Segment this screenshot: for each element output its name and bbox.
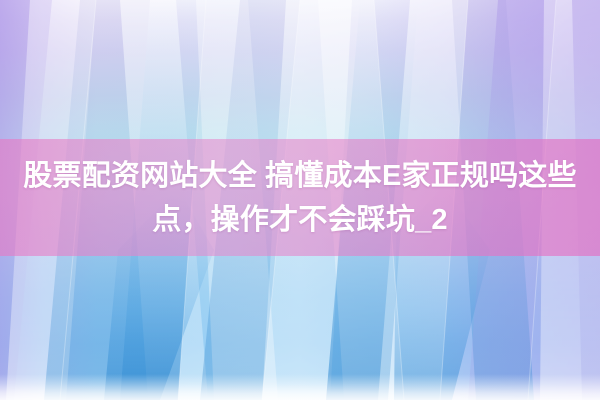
bottom-fade-overlay — [0, 374, 600, 400]
page-title: 股票配资网站大全 搞懂成本E家正规吗这些点，操作才不会踩坑_2 — [0, 154, 600, 242]
title-overlay-band: 股票配资网站大全 搞懂成本E家正规吗这些点，操作才不会踩坑_2 — [0, 139, 600, 256]
article-thumbnail-banner: 股票配资网站大全 搞懂成本E家正规吗这些点，操作才不会踩坑_2 — [0, 0, 600, 400]
page-title-line-2: 作才不会踩坑_2 — [240, 204, 448, 236]
